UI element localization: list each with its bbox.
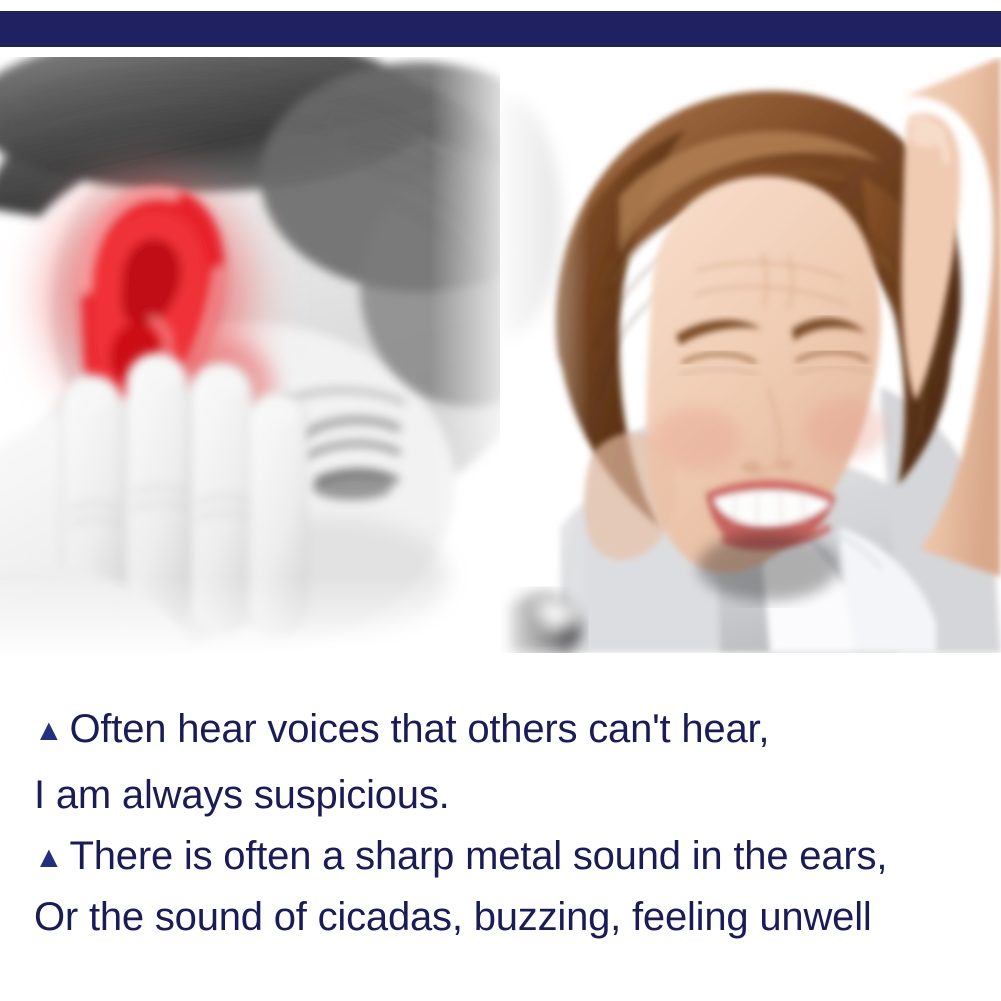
symptom-line-3-label: There is often a sharp metal sound in th…: [70, 836, 888, 876]
symptom-text-block: ▲Often hear voices that others can't hea…: [0, 653, 1001, 1001]
ear-pain-photo: [0, 57, 520, 653]
top-navy-band: [0, 11, 1001, 47]
symptom-line-3: ▲There is often a sharp metal sound in t…: [34, 836, 887, 876]
triangle-bullet-icon: ▲: [34, 843, 64, 873]
photo-strip: [0, 57, 1001, 653]
symptom-line-1: ▲Often hear voices that others can't hea…: [34, 709, 769, 749]
symptom-line-1-label: Often hear voices that others can't hear…: [70, 709, 770, 749]
symptom-line-2-label: I am always suspicious.: [34, 775, 450, 815]
infographic-page: ▲Often hear voices that others can't hea…: [0, 0, 1001, 1001]
triangle-bullet-icon: ▲: [34, 716, 64, 746]
symptom-line-4-label: Or the sound of cicadas, buzzing, feelin…: [34, 897, 872, 937]
symptom-line-4: Or the sound of cicadas, buzzing, feelin…: [34, 897, 872, 937]
ear-covering-photo: [500, 57, 1001, 653]
symptom-line-2: I am always suspicious.: [34, 775, 450, 815]
